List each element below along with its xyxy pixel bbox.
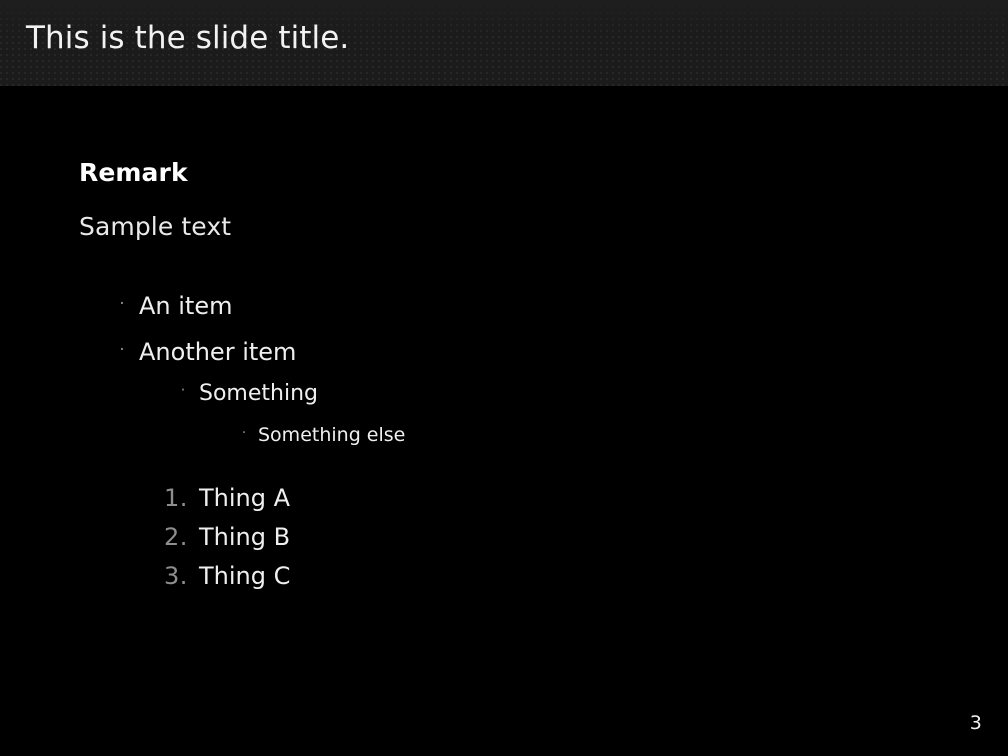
slide-title: This is the slide title. xyxy=(26,21,349,55)
presentation-slide: This is the slide title. Remark Sample t… xyxy=(0,0,1008,756)
block-title-remark: Remark xyxy=(79,158,188,187)
list-item-label: Thing B xyxy=(199,523,290,551)
list-item-label: Thing A xyxy=(199,484,290,512)
list-item: · Something xyxy=(172,381,318,406)
list-item-label: Something else xyxy=(258,424,405,446)
list-item: 1. Thing A xyxy=(164,484,290,512)
list-item: · An item xyxy=(110,292,232,320)
bullet-icon: · xyxy=(110,294,134,314)
list-item-label: Another item xyxy=(139,338,296,366)
list-item: 2. Thing B xyxy=(164,523,290,551)
list-item: · Another item xyxy=(110,338,296,366)
page-number: 3 xyxy=(970,712,982,734)
bullet-icon: · xyxy=(234,425,254,441)
block-body-text: Sample text xyxy=(79,212,231,241)
list-item-label: An item xyxy=(139,292,232,320)
list-item: 3. Thing C xyxy=(164,562,290,590)
list-item-number: 2. xyxy=(164,523,195,551)
list-item: · Something else xyxy=(234,424,405,446)
list-item-number: 3. xyxy=(164,562,195,590)
bullet-icon: · xyxy=(172,381,194,399)
slide-body: Remark Sample text · An item · Another i… xyxy=(0,86,1008,756)
list-item-label: Thing C xyxy=(199,562,290,590)
bullet-icon: · xyxy=(110,340,134,360)
list-item-label: Something xyxy=(199,381,318,406)
list-item-number: 1. xyxy=(164,484,195,512)
slide-title-bar: This is the slide title. xyxy=(0,0,1008,86)
